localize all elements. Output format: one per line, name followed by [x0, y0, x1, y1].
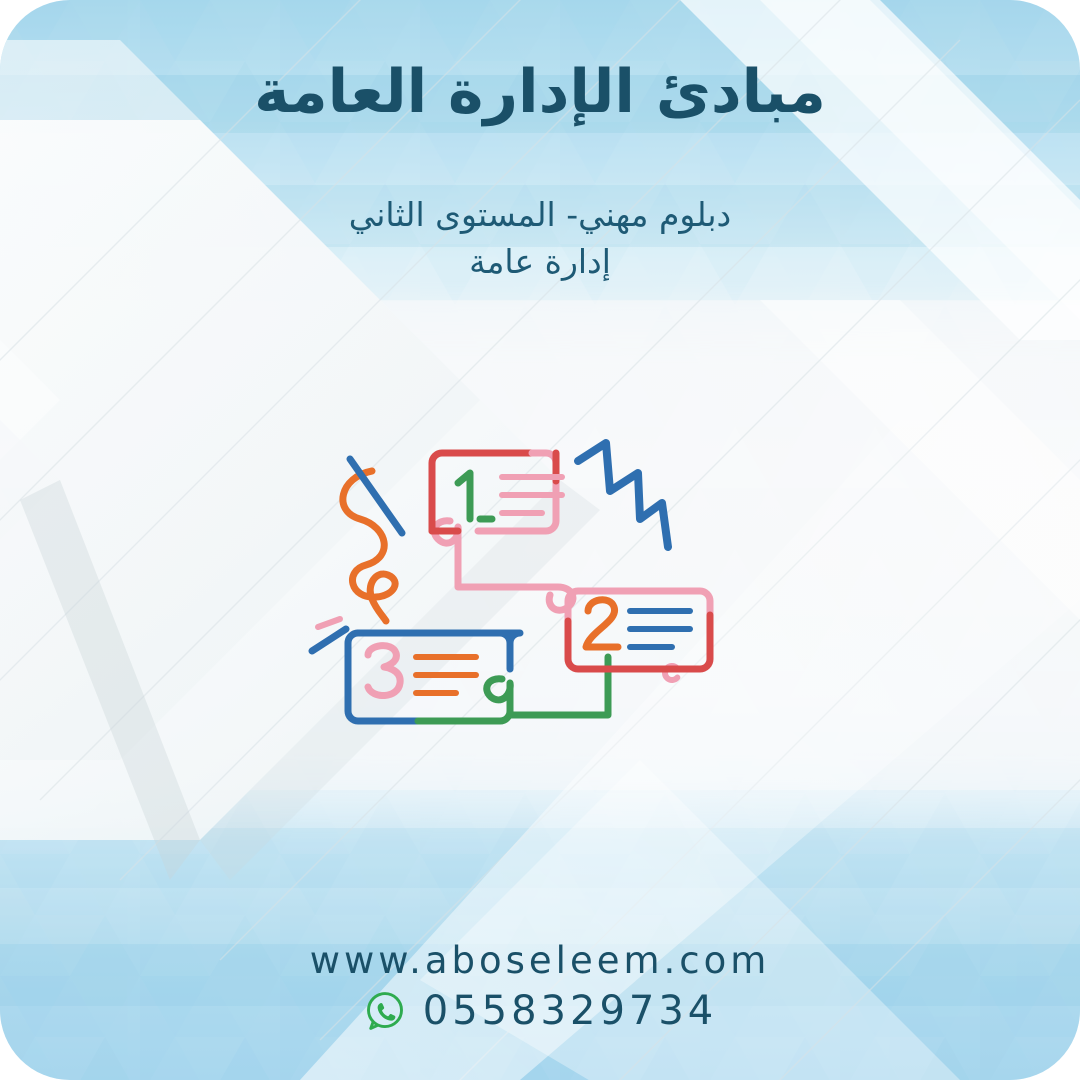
poster-canvas: مبادئ الإدارة العامة دبلوم مهني- المستوى… — [0, 0, 1080, 1080]
orange-squiggle — [343, 471, 395, 621]
blue-zigzag — [578, 443, 668, 547]
poster-subtitle: دبلوم مهني- المستوى الثاني إدارة عامة — [0, 192, 1080, 286]
card-3-border-primary-top — [358, 633, 510, 669]
subtitle-line-2: إدارة عامة — [0, 239, 1080, 286]
subtitle-line-1: دبلوم مهني- المستوى الثاني — [0, 192, 1080, 239]
pink-tick — [318, 619, 340, 627]
card-3-numeral — [368, 646, 400, 696]
website-link[interactable]: www.aboseleem.com — [0, 941, 1080, 982]
card-2-numeral — [586, 600, 618, 647]
phone-row: 0558329734 — [0, 988, 1080, 1034]
phone-number[interactable]: 0558329734 — [423, 988, 718, 1034]
numbered-steps-illustration — [310, 415, 730, 765]
poster-title: مبادئ الإدارة العامة — [0, 58, 1080, 127]
card-1-numeral — [458, 473, 470, 519]
footer: www.aboseleem.com 0558329734 — [0, 941, 1080, 1034]
whatsapp-icon[interactable] — [363, 989, 407, 1033]
blue-tick — [312, 629, 346, 651]
step-card-2 — [568, 591, 710, 669]
